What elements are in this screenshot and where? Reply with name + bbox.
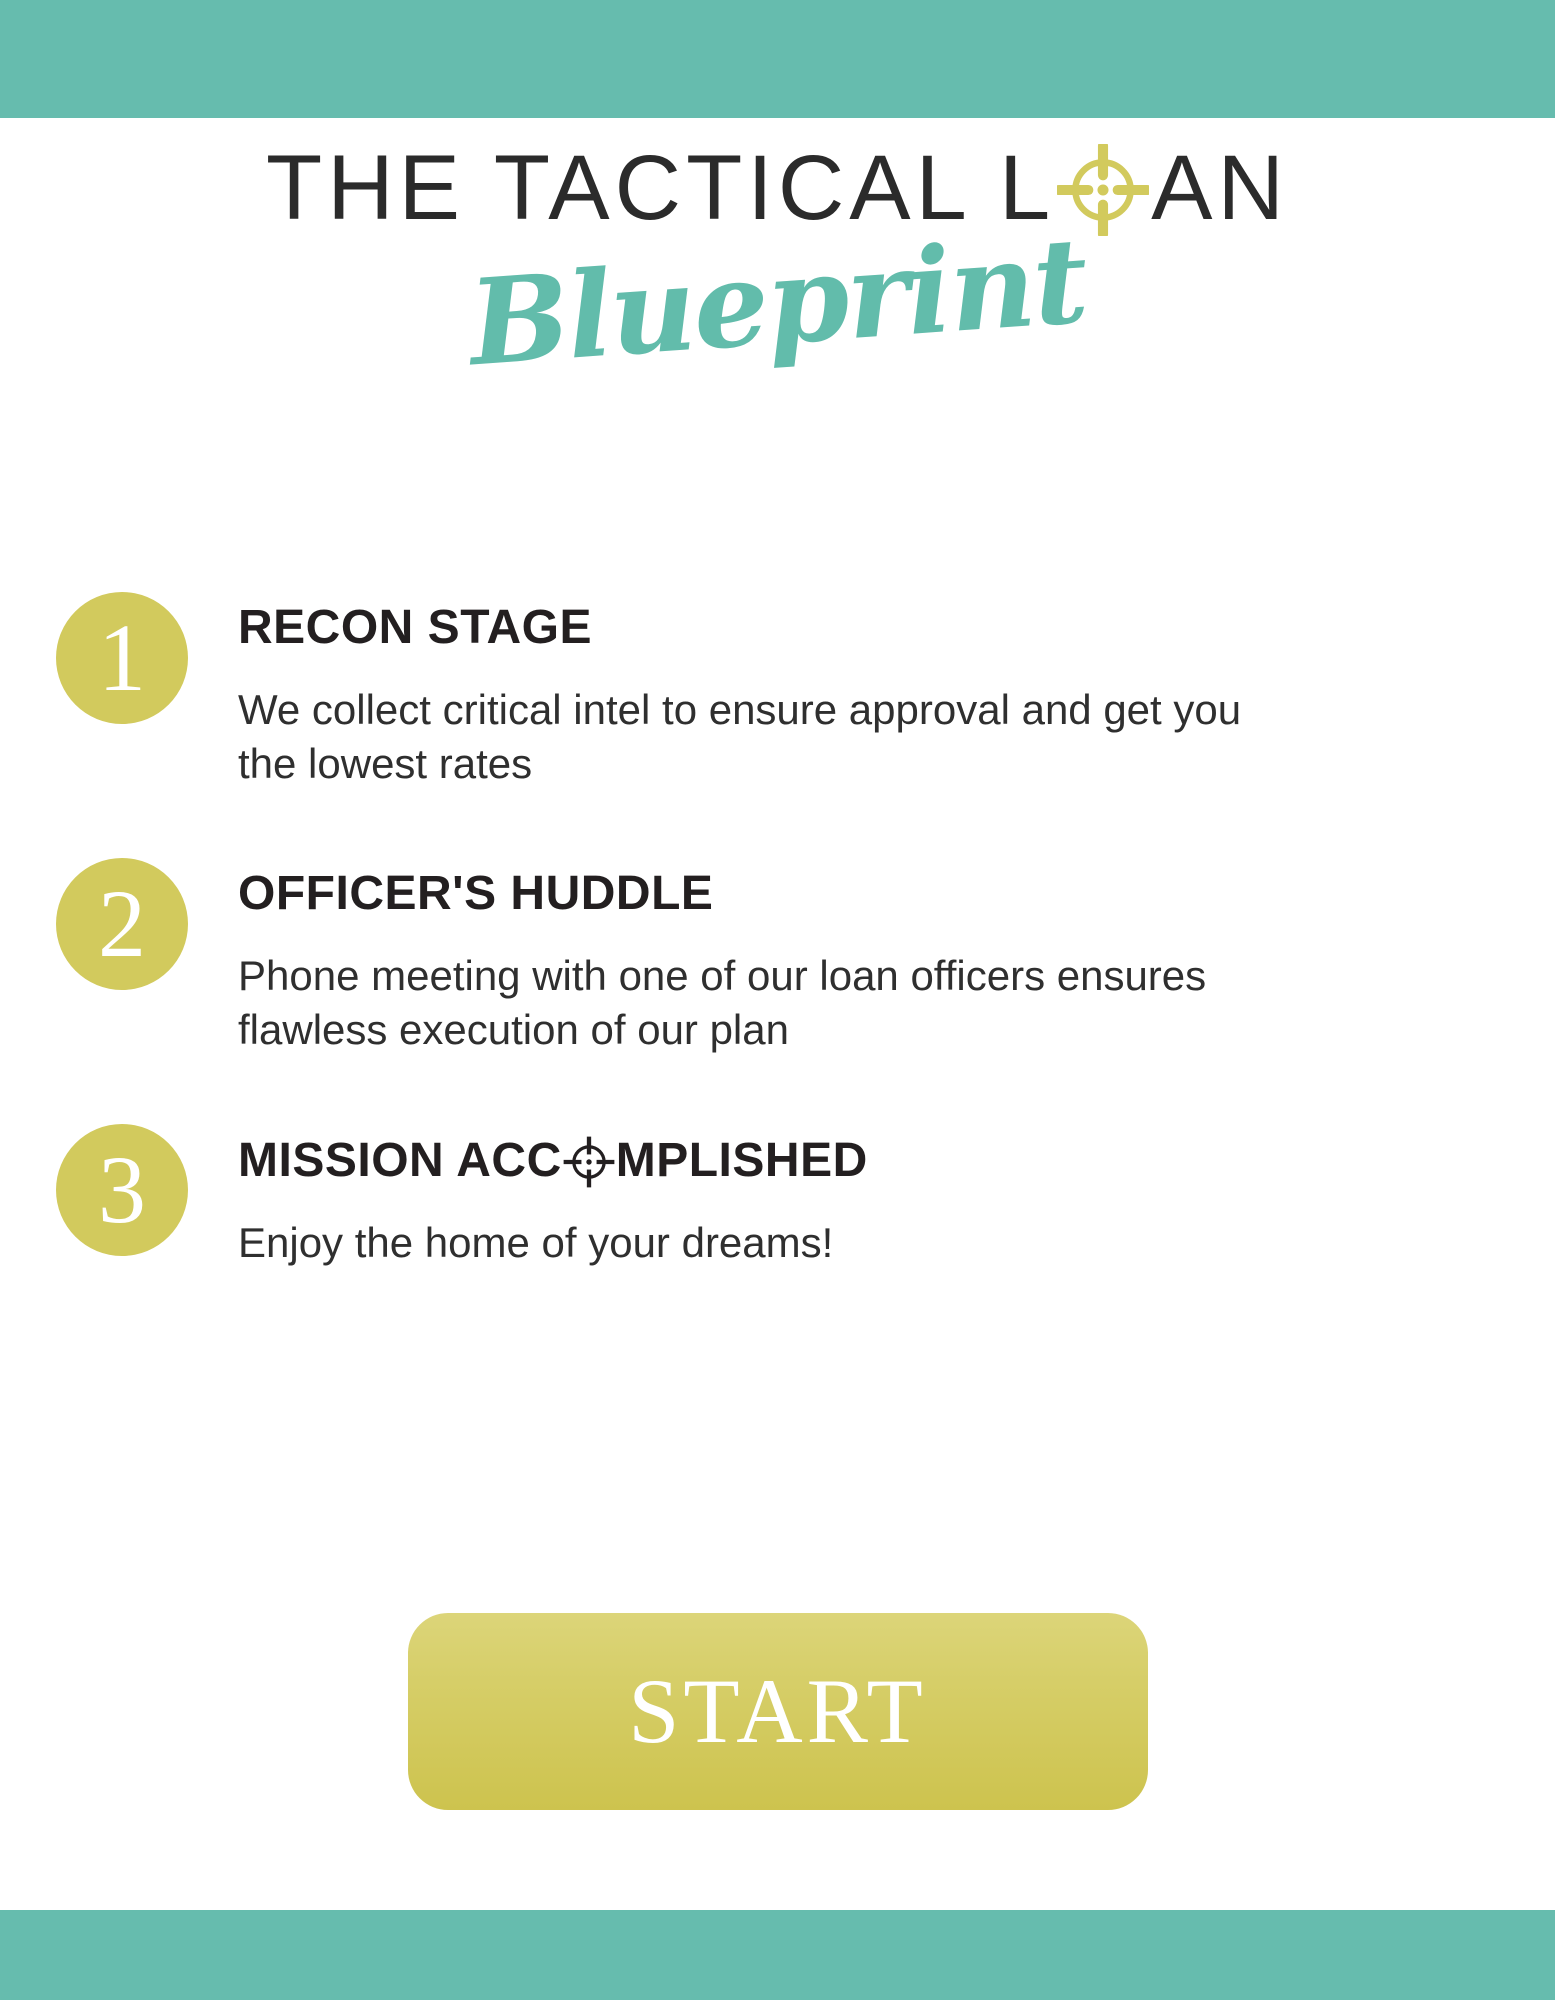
step-title-text-before: MISSION ACC [238,1135,562,1188]
start-button[interactable]: START [408,1613,1148,1810]
step-item: 1 RECON STAGE We collect critical intel … [0,592,1555,792]
step-title: OFFICER'S HUDDLE [238,868,1298,921]
footer-accent-bar [0,1910,1555,2000]
step-item: 2 OFFICER'S HUDDLE Phone meeting with on… [0,858,1555,1058]
step-content: RECON STAGE We collect critical intel to… [238,592,1298,792]
logo-script-word: Blueprint [466,221,1090,382]
step-title-text-after: MPLISHED [616,1135,868,1188]
step-title: RECON STAGE [238,602,1298,655]
logo-wordmark-after: AN [1151,140,1289,237]
step-title-text: RECON STAGE [238,602,592,655]
header-accent-bar [0,0,1555,118]
step-content: OFFICER'S HUDDLE Phone meeting with one … [238,858,1298,1058]
step-number-badge: 1 [56,592,188,724]
crosshair-icon [562,1135,616,1189]
step-content: MISSION ACC MPLISHED Enjoy the home [238,1124,1298,1271]
step-number-badge: 3 [56,1124,188,1256]
step-description: Enjoy the home of your dreams! [238,1216,1248,1271]
steps-list: 1 RECON STAGE We collect critical intel … [0,592,1555,1271]
brand-logo: THE TACTICAL L AN Blueprint [0,140,1555,361]
step-title: MISSION ACC MPLISHED [238,1134,1298,1188]
logo-wordmark: THE TACTICAL L AN [266,140,1289,237]
step-description: We collect critical intel to ensure appr… [238,683,1248,792]
step-title-text: OFFICER'S HUDDLE [238,868,713,921]
step-number-badge: 2 [56,858,188,990]
step-item: 3 MISSION ACC MPLISHED [0,1124,1555,1271]
cta-area: START [0,1613,1555,1810]
page-root: THE TACTICAL L AN Blueprint 1 [0,0,1555,2000]
step-description: Phone meeting with one of our loan offic… [238,949,1248,1058]
